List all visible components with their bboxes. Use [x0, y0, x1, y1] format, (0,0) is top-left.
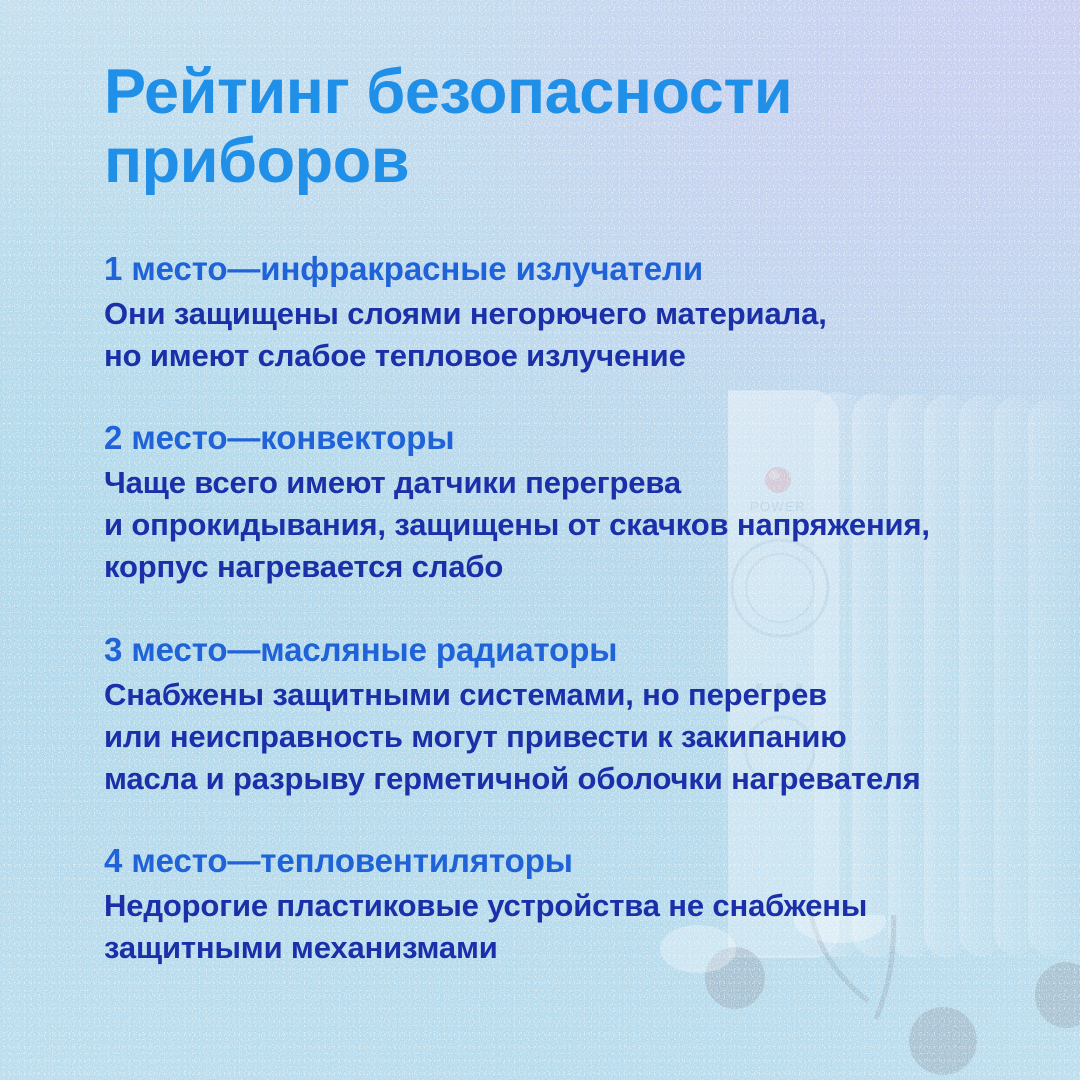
list-item: 3 место—масляные радиаторы Снабжены защи… [104, 629, 1054, 800]
page-title: Рейтинг безопасности приборов [104, 58, 1004, 197]
rank-1-heading: 1 место—инфракрасные излучатели [104, 248, 1054, 290]
list-item: 2 место—конвекторы Чаще всего имеют датч… [104, 417, 1054, 588]
ranking-list: 1 место—инфракрасные излучатели Они защи… [104, 248, 1054, 969]
rank-4-heading: 4 место—тепловентиляторы [104, 840, 1054, 882]
list-item: 4 место—тепловентиляторы Недорогие пласт… [104, 840, 1054, 969]
rank-4-body: Недорогие пластиковые устройства не снаб… [104, 885, 1054, 969]
poster: POWER [0, 0, 1080, 1080]
rank-2-body: Чаще всего имеют датчики перегрева и опр… [104, 462, 1054, 588]
rank-3-body: Снабжены защитными системами, но перегре… [104, 674, 1054, 800]
rank-2-heading: 2 место—конвекторы [104, 417, 1054, 459]
rank-1-body: Они защищены слоями негорючего материала… [104, 293, 1054, 377]
poster-content: Рейтинг безопасности приборов 1 место—ин… [0, 0, 1080, 1080]
list-item: 1 место—инфракрасные излучатели Они защи… [104, 248, 1054, 377]
rank-3-heading: 3 место—масляные радиаторы [104, 629, 1054, 671]
